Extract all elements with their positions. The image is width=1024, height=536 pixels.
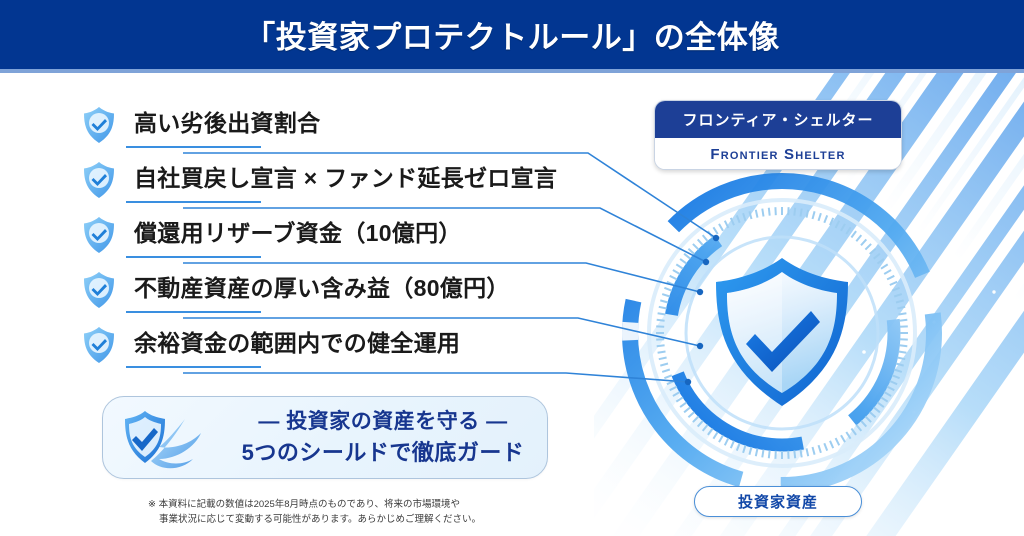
shield-check-swoosh-icon [115, 403, 225, 475]
shield-check-icon [82, 271, 116, 309]
list-item-label: 余裕資金の範囲内での健全運用 [134, 324, 460, 358]
list-item[interactable]: 償還用リザーブ資金（10億円） [78, 210, 638, 262]
callout-line-2: 5つのシールドで徹底ガード [227, 437, 539, 469]
central-shield-graphic [612, 168, 952, 498]
list-item-rule [126, 366, 261, 368]
list-item-label: 高い劣後出資割合 [134, 104, 320, 138]
list-item-rule [126, 311, 261, 313]
callout-line-1: ― 投資家の資産を守る ― [227, 407, 539, 437]
slide-canvas: 「投資家プロテクトルール」の全体像 [0, 0, 1024, 536]
investor-asset-pill: 投資家資産 [694, 486, 862, 517]
shield-check-icon [82, 161, 116, 199]
investor-asset-label: 投資家資産 [738, 491, 818, 512]
frontier-shelter-badge: フロンティア・シェルター Frontier Shelter [654, 100, 902, 170]
footnote-line-1: ※ 本資料に記載の数値は2025年8月時点のものであり、将来の市場環境や [148, 499, 460, 510]
list-item-label: 自社買戻し宣言 × ファンド延長ゼロ宣言 [134, 159, 557, 193]
summary-callout: ― 投資家の資産を守る ― 5つのシールドで徹底ガード [102, 396, 548, 479]
list-item[interactable]: 不動産資産の厚い含み益（80億円） [78, 265, 638, 317]
badge-japanese-label: フロンティア・シェルター [682, 109, 873, 130]
page-header: 「投資家プロテクトルール」の全体像 [0, 0, 1024, 69]
list-item-rule [126, 201, 261, 203]
footnote-line-2: 事業状況に応じて変動する可能性があります。あらかじめご理解ください。 [148, 512, 568, 527]
list-item[interactable]: 自社買戻し宣言 × ファンド延長ゼロ宣言 [78, 155, 638, 207]
shield-emblem [716, 258, 848, 406]
hero-svg [612, 168, 952, 498]
page-title: 「投資家プロテクトルール」の全体像 [244, 12, 780, 57]
shield-check-icon [82, 326, 116, 364]
list-item-label: 不動産資産の厚い含み益（80億円） [134, 269, 510, 303]
badge-english-row: Frontier Shelter [655, 138, 901, 170]
list-item[interactable]: 高い劣後出資割合 [78, 100, 638, 152]
badge-english-label: Frontier Shelter [710, 146, 845, 163]
header-underline [0, 69, 1024, 73]
shield-check-icon [82, 216, 116, 254]
list-item-rule [126, 256, 261, 258]
footnote: ※ 本資料に記載の数値は2025年8月時点のものであり、将来の市場環境や 事業状… [148, 497, 568, 527]
list-item-label: 償還用リザーブ資金（10億円） [134, 214, 462, 248]
badge-japanese-row: フロンティア・シェルター [655, 101, 901, 138]
list-item[interactable]: 余裕資金の範囲内での健全運用 [78, 320, 638, 372]
shield-check-icon [82, 106, 116, 144]
callout-text-block: ― 投資家の資産を守る ― 5つのシールドで徹底ガード [227, 407, 539, 469]
list-item-rule [126, 146, 261, 148]
